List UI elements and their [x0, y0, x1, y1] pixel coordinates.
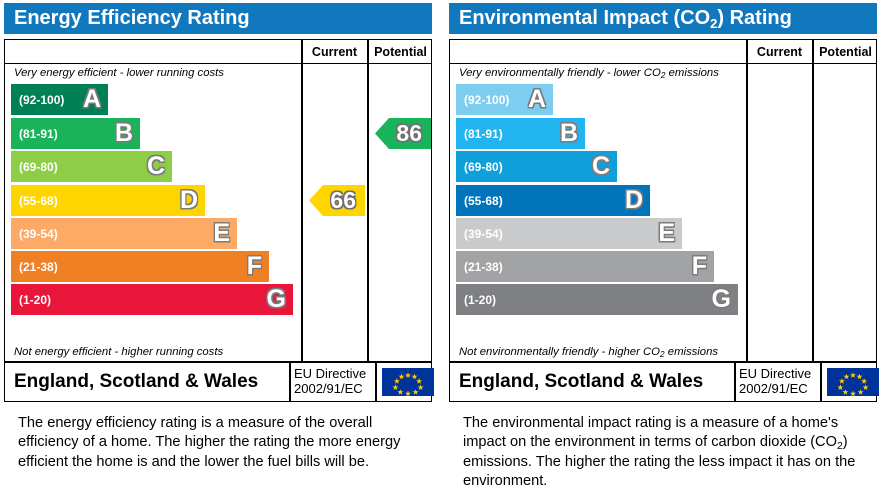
footer-divider-vertical-2	[375, 363, 377, 402]
footer-band: England, Scotland & Wales EU Directive 2…	[450, 363, 876, 402]
band-range-d: (55-68)	[464, 194, 503, 208]
environmental-impact-title: Environmental Impact (CO2) Rating	[449, 3, 877, 34]
band-range-a: (92-100)	[19, 93, 64, 107]
country-label: England, Scotland & Wales	[14, 363, 258, 402]
band-bar-b: (81-91) B	[11, 118, 140, 149]
eu-directive-label: EU Directive 2002/91/EC	[294, 363, 366, 402]
eu-directive-line1: EU Directive	[739, 367, 811, 382]
column-header-current: Current	[302, 40, 367, 63]
eu-flag-icon	[382, 368, 434, 396]
band-letter-g: G	[267, 287, 286, 312]
eu-directive-line1: EU Directive	[294, 367, 366, 382]
co2-subscript: 2	[660, 349, 665, 359]
eu-directive-line2: 2002/91/EC	[294, 382, 366, 397]
environmental-impact-title-suffix: ) Rating	[717, 7, 791, 29]
band-bar-f: (21-38) F	[11, 251, 269, 282]
footer-divider-vertical-1	[734, 363, 736, 402]
band-range-f: (21-38)	[464, 260, 503, 274]
energy-efficiency-title-text: Energy Efficiency Rating	[14, 7, 250, 29]
band-range-c: (69-80)	[19, 160, 58, 174]
band-range-e: (39-54)	[464, 227, 503, 241]
bottom-caption: Not environmentally friendly - higher CO…	[459, 346, 718, 358]
co2-subscript: 2	[710, 16, 717, 31]
epc-rating-graphs: Energy Efficiency Rating Current Potenti…	[0, 0, 880, 493]
environmental-impact-title-text: Environmental Impact (CO	[459, 7, 710, 29]
top-caption-post: emissions	[665, 67, 718, 79]
potential-rating-arrow: 86	[375, 118, 431, 149]
band-bar-a: (92-100) A	[456, 84, 553, 115]
band-bar-d: (55-68) D	[456, 185, 650, 216]
eu-directive-label: EU Directive 2002/91/EC	[739, 363, 811, 402]
band-bar-a: (92-100) A	[11, 84, 108, 115]
column-header-potential: Potential	[368, 40, 433, 63]
band-bar-d: (55-68) D	[11, 185, 205, 216]
eu-flag-icon	[827, 368, 879, 396]
band-bar-b: (81-91) B	[456, 118, 585, 149]
band-letter-e: E	[658, 221, 675, 246]
column-header-current: Current	[747, 40, 812, 63]
description-line-3-pre: carbon dioxide (CO	[711, 434, 837, 450]
band-range-b: (81-91)	[19, 127, 58, 141]
column-divider-potential	[812, 40, 814, 363]
energy-efficiency-table: Current Potential Very energy efficient …	[4, 39, 432, 402]
band-range-b: (81-91)	[464, 127, 503, 141]
column-divider-potential	[367, 40, 369, 363]
band-letter-b: B	[560, 121, 578, 146]
energy-efficiency-panel: Energy Efficiency Rating Current Potenti…	[0, 0, 434, 493]
bottom-caption: Not energy efficient - higher running co…	[14, 346, 223, 358]
bottom-caption-post: emissions	[665, 346, 718, 358]
band-letter-e: E	[213, 221, 230, 246]
band-bar-c: (69-80) C	[11, 151, 172, 182]
energy-efficiency-description: The energy efficiency rating is a measur…	[18, 414, 428, 472]
footer-divider-vertical-2	[820, 363, 822, 402]
band-bar-f: (21-38) F	[456, 251, 714, 282]
band-letter-f: F	[692, 254, 707, 279]
band-letter-g: G	[712, 287, 731, 312]
environmental-impact-description: The environmental impact rating is a mea…	[463, 414, 873, 491]
co2-subscript: 2	[661, 70, 666, 80]
band-range-d: (55-68)	[19, 194, 58, 208]
band-bar-e: (39-54) E	[456, 218, 682, 249]
eu-directive-line2: 2002/91/EC	[739, 382, 811, 397]
description-line-4: lower the fuel bills will be.	[204, 454, 369, 470]
band-range-g: (1-20)	[19, 293, 51, 307]
footer-band: England, Scotland & Wales EU Directive 2…	[5, 363, 431, 402]
bottom-caption-pre: Not environmentally friendly - higher CO	[459, 346, 660, 358]
top-caption: Very environmentally friendly - lower CO…	[459, 67, 719, 79]
footer-divider-vertical-1	[289, 363, 291, 402]
band-letter-a: A	[528, 87, 546, 112]
band-bar-g: (1-20) G	[11, 284, 293, 315]
band-range-g: (1-20)	[464, 293, 496, 307]
band-range-f: (21-38)	[19, 260, 58, 274]
band-range-e: (39-54)	[19, 227, 58, 241]
environmental-impact-table: Current Potential Very environmentally f…	[449, 39, 877, 402]
current-rating-value: 66	[330, 189, 365, 212]
current-rating-arrow: 66	[309, 185, 365, 216]
column-divider-current	[746, 40, 748, 363]
band-bar-e: (39-54) E	[11, 218, 237, 249]
band-letter-d: D	[180, 188, 198, 213]
top-caption: Very energy efficient - lower running co…	[14, 67, 224, 79]
band-letter-a: A	[83, 87, 101, 112]
column-divider-current	[301, 40, 303, 363]
band-letter-d: D	[625, 188, 643, 213]
band-bar-g: (1-20) G	[456, 284, 738, 315]
band-range-a: (92-100)	[464, 93, 509, 107]
band-letter-c: C	[147, 154, 165, 179]
potential-rating-value: 86	[396, 122, 431, 145]
band-letter-b: B	[115, 121, 133, 146]
description-line-1: The environmental impact rating is a mea…	[463, 415, 775, 431]
column-header-potential: Potential	[813, 40, 878, 63]
description-line-1: The energy efficiency rating is a measur…	[18, 415, 325, 431]
top-caption-pre: Very environmentally friendly - lower CO	[459, 67, 661, 79]
energy-efficiency-title: Energy Efficiency Rating	[4, 3, 432, 34]
environmental-impact-panel: Environmental Impact (CO2) Rating Curren…	[445, 0, 879, 493]
band-letter-c: C	[592, 154, 610, 179]
band-letter-f: F	[247, 254, 262, 279]
country-label: England, Scotland & Wales	[459, 363, 703, 402]
band-bar-c: (69-80) C	[456, 151, 617, 182]
co2-subscript: 2	[837, 440, 843, 452]
band-range-c: (69-80)	[464, 160, 503, 174]
